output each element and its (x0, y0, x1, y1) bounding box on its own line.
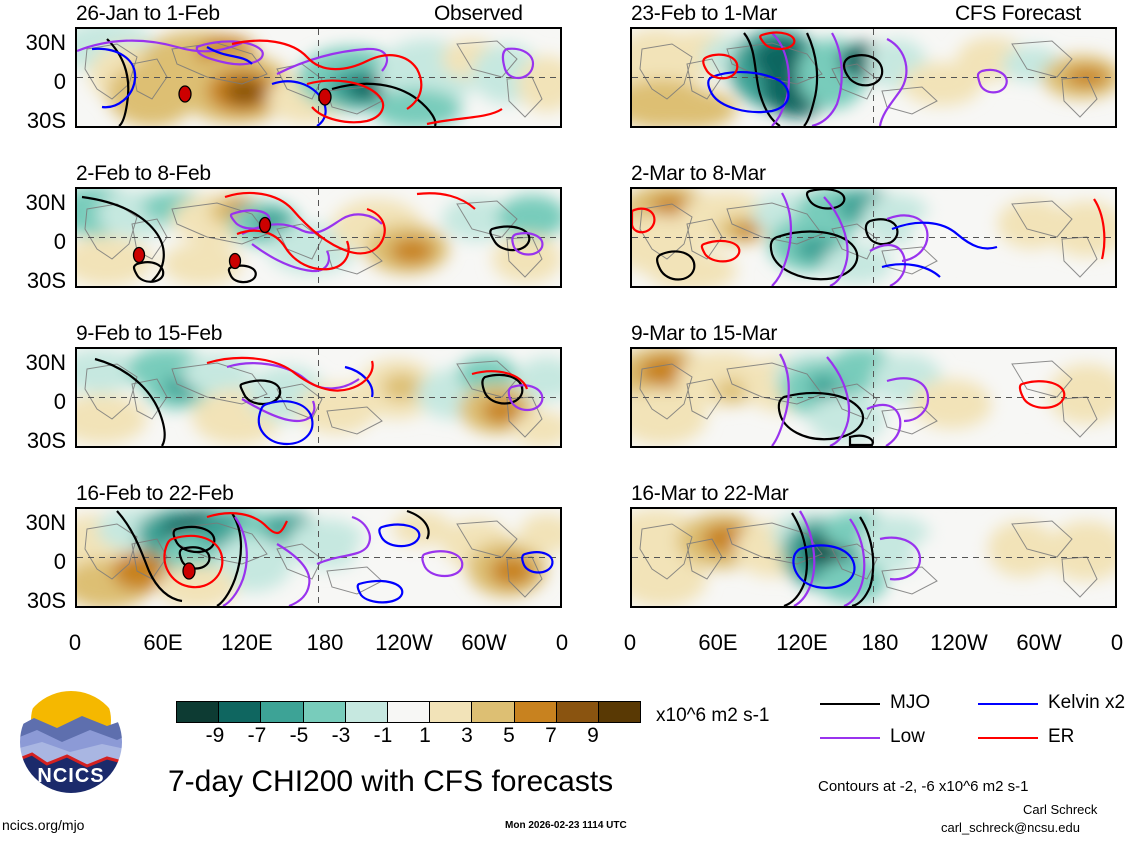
panel-title-2: 23-Feb to 1-Mar (631, 2, 777, 26)
map-panel-7[interactable] (75, 507, 562, 608)
map-panel-2[interactable] (630, 27, 1117, 128)
author-name: Carl Schreck (1023, 802, 1097, 817)
xaxis-label-c2-120e: 120E (764, 630, 840, 656)
yaxis-label-0-r4: 0 (0, 549, 66, 575)
xaxis-label-c2-0: 0 (606, 630, 654, 656)
colorbar-tick--7: -7 (236, 724, 278, 748)
yaxis-label-30s-r3: 30S (0, 428, 66, 454)
xaxis-label-c2-0b: 0 (1093, 630, 1135, 656)
colorbar-segment-5 (388, 702, 430, 722)
colorbar-segment-2 (261, 702, 303, 722)
colorbar-segment-9 (557, 702, 599, 722)
colorbar-tick--3: -3 (320, 724, 362, 748)
legend-label-kelvin: Kelvin x2 (1048, 692, 1125, 714)
colorbar-segment-10 (599, 702, 640, 722)
xaxis-label-c1-120e: 120E (209, 630, 285, 656)
yaxis-label-30n-r2: 30N (0, 190, 66, 216)
logo-url[interactable]: ncics.org/mjo (2, 817, 84, 833)
xaxis-label-c1-0: 0 (51, 630, 99, 656)
main-title: 7-day CHI200 with CFS forecasts (168, 765, 613, 799)
xaxis-label-c1-0b: 0 (538, 630, 586, 656)
xaxis-label-c1-180: 180 (296, 630, 354, 656)
timestamp: Mon 2026-02-23 1114 UTC (505, 820, 627, 831)
xaxis-label-c2-180: 180 (851, 630, 909, 656)
colorbar-tick-1: 1 (404, 724, 446, 748)
svg-text:NCICS: NCICS (37, 765, 104, 787)
map-panel-6[interactable] (630, 347, 1117, 448)
yaxis-label-0-r2: 0 (0, 229, 66, 255)
colorbar-tick--9: -9 (194, 724, 236, 748)
panel-title-5: 9-Feb to 15-Feb (76, 322, 222, 346)
colorbar-segment-0 (177, 702, 219, 722)
map-panel-5[interactable] (75, 347, 562, 448)
colorbar-segment-1 (219, 702, 261, 722)
yaxis-label-30n-r1: 30N (0, 30, 66, 56)
panel-corner-observed: Observed (434, 2, 523, 26)
colorbar-tick-9: 9 (572, 724, 614, 748)
yaxis-label-30s-r1: 30S (0, 108, 66, 134)
yaxis-label-30s-r4: 30S (0, 588, 66, 614)
xaxis-label-c2-120w: 120W (919, 630, 999, 656)
colorbar (176, 701, 641, 723)
xaxis-label-c1-120w: 120W (364, 630, 444, 656)
ncics-logo: NCICS (12, 690, 130, 802)
panel-corner-cfs: CFS Forecast (955, 2, 1081, 26)
author-email[interactable]: carl_schreck@ncsu.edu (941, 820, 1080, 835)
yaxis-label-0-r1: 0 (0, 69, 66, 95)
xaxis-label-c2-60w: 60W (1006, 630, 1072, 656)
colorbar-segment-7 (472, 702, 514, 722)
legend-label-mjo: MJO (890, 692, 930, 714)
colorbar-segment-3 (304, 702, 346, 722)
colorbar-tick-7: 7 (530, 724, 572, 748)
yaxis-label-30n-r3: 30N (0, 350, 66, 376)
yaxis-label-30s-r2: 30S (0, 268, 66, 294)
panel-title-6: 9-Mar to 15-Mar (631, 322, 777, 346)
yaxis-label-0-r3: 0 (0, 389, 66, 415)
legend-label-low: Low (890, 726, 925, 748)
legend-swatch-mjo (820, 703, 880, 705)
colorbar-tick--5: -5 (278, 724, 320, 748)
legend-label-er: ER (1048, 726, 1074, 748)
panel-title-3: 2-Feb to 8-Feb (76, 162, 211, 186)
colorbar-tick-5: 5 (488, 724, 530, 748)
colorbar-segment-6 (430, 702, 472, 722)
panel-title-4: 2-Mar to 8-Mar (631, 162, 766, 186)
xaxis-label-c1-60e: 60E (132, 630, 194, 656)
map-panel-8[interactable] (630, 507, 1117, 608)
legend-swatch-er (978, 737, 1038, 739)
panel-title-7: 16-Feb to 22-Feb (76, 482, 233, 506)
xaxis-label-c1-60w: 60W (451, 630, 517, 656)
legend-swatch-kelvin (978, 703, 1038, 705)
xaxis-label-c2-60e: 60E (687, 630, 749, 656)
colorbar-segment-8 (515, 702, 557, 722)
map-panel-3[interactable] (75, 187, 562, 288)
contour-note: Contours at -2, -6 x10^6 m2 s-1 (818, 778, 1028, 795)
panel-title-1: 26-Jan to 1-Feb (76, 2, 220, 26)
colorbar-segment-4 (346, 702, 388, 722)
colorbar-tick-3: 3 (446, 724, 488, 748)
colorbar-tick--1: -1 (362, 724, 404, 748)
yaxis-label-30n-r4: 30N (0, 510, 66, 536)
map-panel-4[interactable] (630, 187, 1117, 288)
map-panel-1[interactable] (75, 27, 562, 128)
panel-title-8: 16-Mar to 22-Mar (631, 482, 788, 506)
colorbar-unit-label: x10^6 m2 s-1 (656, 705, 769, 727)
legend-swatch-low (820, 737, 880, 739)
